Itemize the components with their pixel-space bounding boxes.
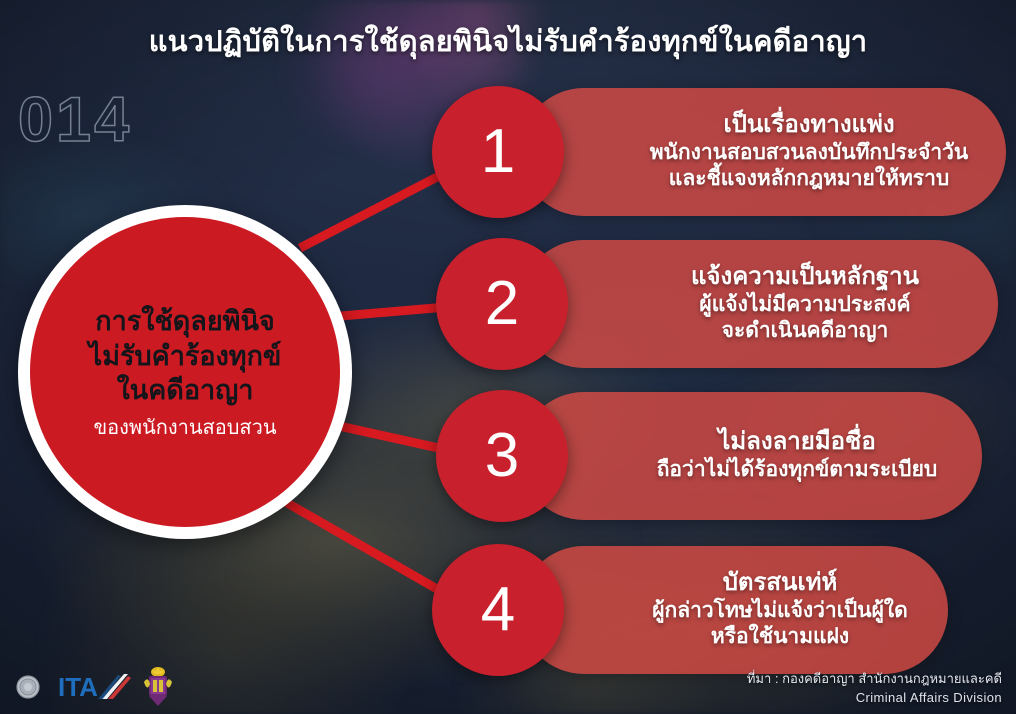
item-1-line-2: และชี้แจงหลักกฎหมายให้ทราบ <box>669 166 949 192</box>
item-3-number: 3 <box>485 425 519 487</box>
royal-thai-police-seal-icon <box>8 667 48 707</box>
central-hub-subtitle: ของพนักงานสอบสวน <box>93 416 276 440</box>
ita-wordmark-icon: ITA <box>58 672 132 702</box>
item-4-line-2: หรือใช้นามแฝง <box>711 624 849 650</box>
item-1-number: 1 <box>481 121 515 183</box>
item-2-line-2: จะดำเนินคดีอาญา <box>722 318 889 344</box>
item-3-panel[interactable]: ไม่ลงลายมือชื่อ ถือว่าไม่ได้ร้องทุกข์ตาม… <box>520 392 982 520</box>
item-4-number: 4 <box>481 579 515 641</box>
item-1-line-1: พนักงานสอบสวนลงบันทึกประจำวัน <box>650 140 969 166</box>
source-credit-th: ที่มา : กองคดีอาญา สำนักงานกฎหมายและคดี <box>747 670 1002 689</box>
item-2-number-badge[interactable]: 2 <box>436 238 568 370</box>
central-hub-title: การใช้ดุลยพินิจ ไม่รับคำร้องทุกข์ ในคดีอ… <box>71 304 300 408</box>
item-4-number-badge[interactable]: 4 <box>432 544 564 676</box>
item-1-panel[interactable]: เป็นเรื่องทางแพ่ง พนักงานสอบสวนลงบันทึกป… <box>520 88 1006 216</box>
ita-logo: ITA <box>58 672 132 702</box>
government-crest-icon <box>142 666 174 708</box>
item-1-number-badge[interactable]: 1 <box>432 86 564 218</box>
item-2-number: 2 <box>485 273 519 335</box>
item-2-text: แจ้งความเป็นหลักฐาน ผู้แจ้งไม่มีความประส… <box>520 240 998 368</box>
logo-group: ITA <box>8 666 174 708</box>
item-3-number-badge[interactable]: 3 <box>436 390 568 522</box>
item-4-heading: บัตรสนเท่ห์ <box>723 569 838 598</box>
item-2-heading: แจ้งความเป็นหลักฐาน <box>691 263 919 292</box>
item-2-line-1: ผู้แจ้งไม่มีความประสงค์ <box>699 292 910 318</box>
item-2-panel[interactable]: แจ้งความเป็นหลักฐาน ผู้แจ้งไม่มีความประส… <box>520 240 998 368</box>
item-3-heading: ไม่ลงลายมือชื่อ <box>718 428 876 457</box>
source-credit-en: Criminal Affairs Division <box>747 689 1002 708</box>
central-hub-line-1: การใช้ดุลยพินิจ <box>89 304 282 339</box>
central-hub-line-3: ในคดีอาญา <box>89 373 282 408</box>
central-hub: การใช้ดุลยพินิจ ไม่รับคำร้องทุกข์ ในคดีอ… <box>18 205 352 539</box>
source-credit: ที่มา : กองคดีอาญา สำนักงานกฎหมายและคดี … <box>747 670 1002 708</box>
item-3-text: ไม่ลงลายมือชื่อ ถือว่าไม่ได้ร้องทุกข์ตาม… <box>520 392 982 520</box>
item-1-heading: เป็นเรื่องทางแพ่ง <box>723 111 894 140</box>
item-4-panel[interactable]: บัตรสนเท่ห์ ผู้กล่าวโทษไม่แจ้งว่าเป็นผู้… <box>520 546 948 674</box>
ita-text: ITA <box>58 672 98 702</box>
item-4-text: บัตรสนเท่ห์ ผู้กล่าวโทษไม่แจ้งว่าเป็นผู้… <box>520 546 948 674</box>
central-hub-inner: การใช้ดุลยพินิจ ไม่รับคำร้องทุกข์ ในคดีอ… <box>30 217 340 527</box>
central-hub-line-2: ไม่รับคำร้องทุกข์ <box>89 339 282 374</box>
item-3-line-1: ถือว่าไม่ได้ร้องทุกข์ตามระเบียบ <box>657 457 938 483</box>
infographic-canvas: แนวปฏิบัติในการใช้ดุลยพินิจไม่รับคำร้องท… <box>0 0 1016 714</box>
item-4-line-1: ผู้กล่าวโทษไม่แจ้งว่าเป็นผู้ใด <box>652 598 908 624</box>
item-1-text: เป็นเรื่องทางแพ่ง พนักงานสอบสวนลงบันทึกป… <box>520 88 1006 216</box>
